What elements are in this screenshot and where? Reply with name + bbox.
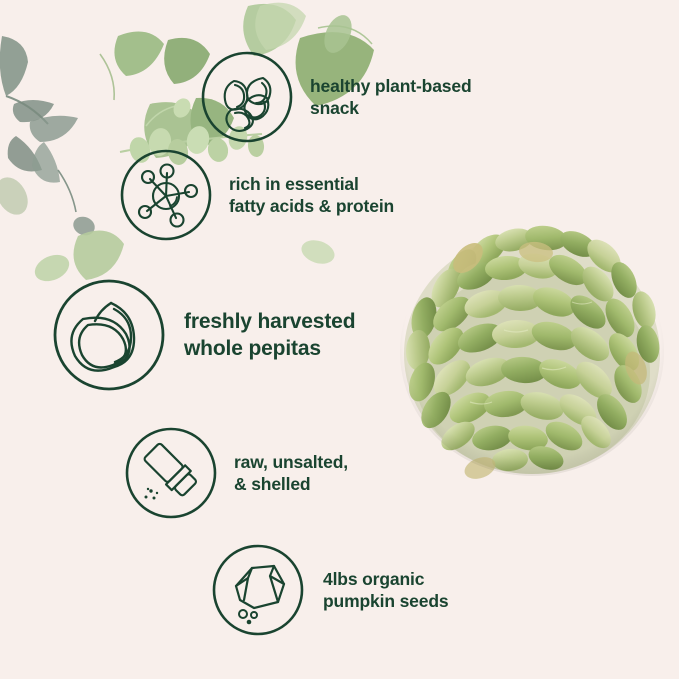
feature-label: freshly harvested whole pepitas bbox=[184, 308, 355, 363]
feature-label: healthy plant-based snack bbox=[310, 75, 472, 119]
feature-row-whole-pepitas: freshly harvested whole pepitas bbox=[53, 279, 355, 391]
feature-label: rich in essential fatty acids & protein bbox=[229, 173, 394, 217]
feature-label: 4lbs organic pumpkin seeds bbox=[323, 568, 448, 612]
feature-row-raw-unsalted: raw, unsalted, & shelled bbox=[125, 427, 348, 519]
feature-label: raw, unsalted, & shelled bbox=[234, 451, 348, 495]
infographic-page: healthy plant-based snack rich in essent… bbox=[0, 0, 679, 679]
pumpkin-seeds-pile-photo bbox=[396, 222, 668, 480]
feature-row-fatty-acids: rich in essential fatty acids & protein bbox=[120, 149, 394, 241]
salt-shaker-icon bbox=[125, 427, 217, 519]
pepita-seeds-icon bbox=[201, 51, 293, 143]
whole-pepitas-icon bbox=[53, 279, 165, 391]
molecule-icon bbox=[120, 149, 212, 241]
feature-row-4lbs-seeds: 4lbs organic pumpkin seeds bbox=[212, 544, 448, 636]
seed-bag-icon bbox=[212, 544, 304, 636]
feature-row-healthy-snack: healthy plant-based snack bbox=[201, 51, 472, 143]
